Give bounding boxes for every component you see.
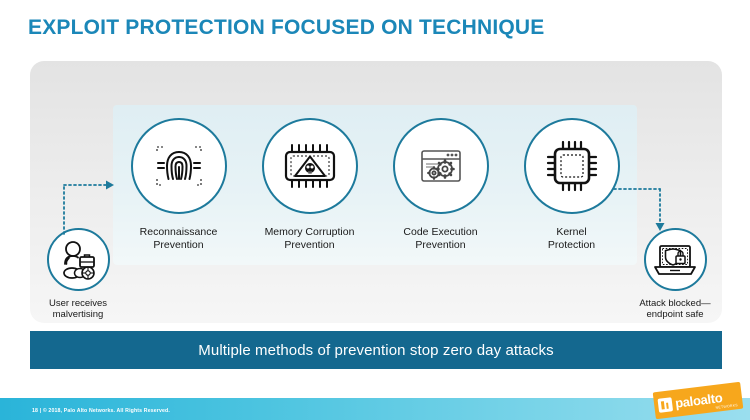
arrow-user-to-first-technique (58, 178, 120, 241)
technique-item-code-execution[interactable]: Code Execution Prevention (379, 118, 503, 251)
technique-circle[interactable] (524, 118, 620, 214)
technique-circle[interactable] (131, 118, 227, 214)
cpu-chip-icon (542, 136, 602, 196)
technique-label: Memory Corruption Prevention (265, 226, 355, 251)
paloalto-logo-mark-icon (657, 397, 673, 413)
technique-circle[interactable] (393, 118, 489, 214)
page-title: Exploit Protection Focused on Technique (28, 16, 545, 40)
fingerprint-scan-icon (149, 136, 209, 196)
laptop-shield-lock-icon (652, 239, 698, 281)
browser-gears-icon (412, 137, 470, 195)
technique-circle[interactable] (262, 118, 358, 214)
flow-start-label: User receives malvertising (49, 298, 107, 320)
summary-banner: Multiple methods of prevention stop zero… (30, 331, 722, 369)
user-malvertising-icon (56, 238, 100, 282)
arrow-last-technique-to-endpoint (612, 183, 674, 240)
technique-item-memory-corruption[interactable]: Memory Corruption Prevention (248, 118, 372, 251)
flow-start-user[interactable]: User receives malvertising (15, 228, 141, 320)
technique-row: Reconnaissance Prevention (113, 118, 637, 278)
copyright-text: 18 | © 2018, Palo Alto Networks. All Rig… (32, 408, 170, 414)
technique-label: Reconnaissance Prevention (140, 226, 218, 251)
chip-skull-warning-icon (279, 135, 341, 197)
technique-label: Kernel Protection (548, 226, 595, 251)
flow-end-endpoint[interactable]: Attack blocked— endpoint safe (612, 228, 738, 320)
flow-end-label: Attack blocked— endpoint safe (639, 298, 710, 320)
summary-banner-text: Multiple methods of prevention stop zero… (198, 342, 553, 359)
technique-label: Code Execution Prevention (403, 226, 477, 251)
